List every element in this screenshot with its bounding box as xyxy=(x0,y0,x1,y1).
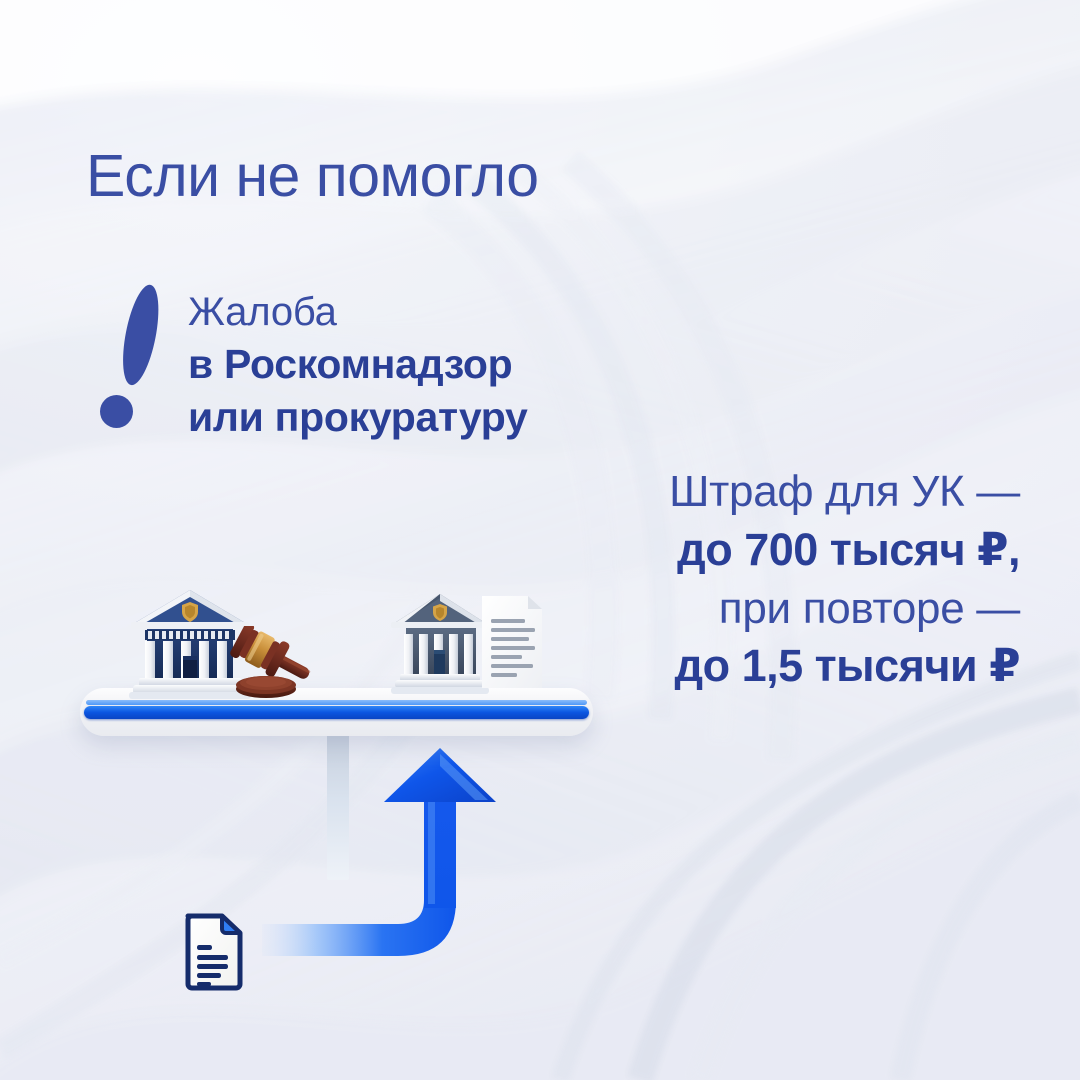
platform-stripe-highlight xyxy=(86,700,587,705)
document-icon xyxy=(182,912,244,992)
illustration-group xyxy=(0,0,1080,1080)
courthouse-building-slate-icon xyxy=(388,592,492,696)
platform-pedestal-stem xyxy=(327,734,349,880)
platform-blue-stripe xyxy=(84,706,589,719)
poster-root: Если не помогло Жалоба в Роскомнадзор ил… xyxy=(0,0,1080,1080)
paper-document-sheet-icon xyxy=(478,592,548,692)
judge-gavel-icon xyxy=(228,626,312,698)
